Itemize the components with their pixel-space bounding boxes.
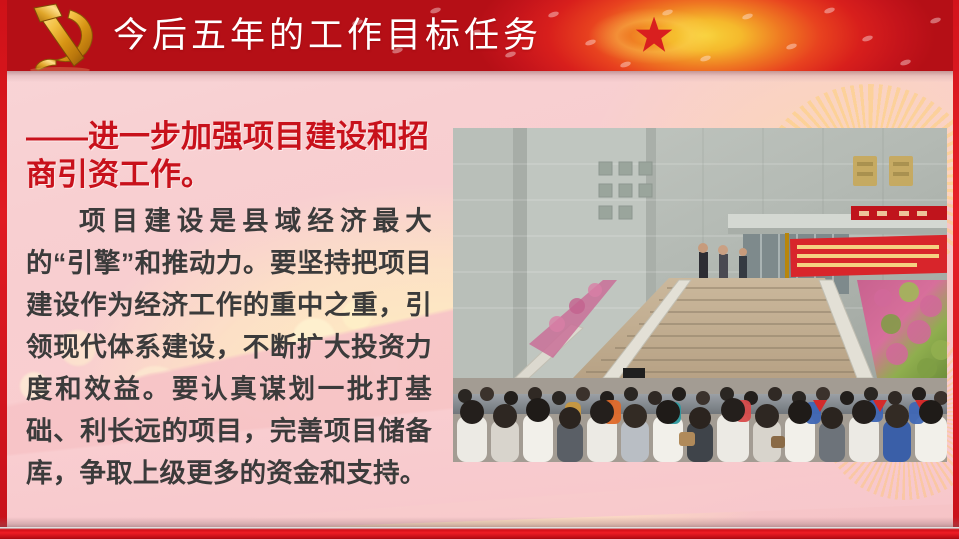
- right-edge-strip: [953, 0, 959, 539]
- hammer-and-sickle-emblem: [12, 2, 108, 71]
- event-photo: [453, 128, 947, 462]
- header-gloss-strip: [0, 71, 959, 82]
- presentation-slide: 今后五年的工作目标任务 ——进一步加强项目建设和招商引资工作。 项目建设是县域经…: [0, 0, 959, 539]
- slide-header-banner: 今后五年的工作目标任务: [0, 0, 959, 71]
- body-paragraph: 项目建设是县域经济最大的“引擎”和推动力。要坚持把项目建设作为经济工作的重中之重…: [26, 200, 432, 494]
- section-heading: ——进一步加强项目建设和招商引资工作。: [26, 118, 430, 194]
- footer-bar: [0, 527, 959, 539]
- left-edge-strip: [0, 0, 7, 539]
- page-title: 今后五年的工作目标任务: [113, 14, 542, 58]
- footer-shadow: [0, 517, 959, 527]
